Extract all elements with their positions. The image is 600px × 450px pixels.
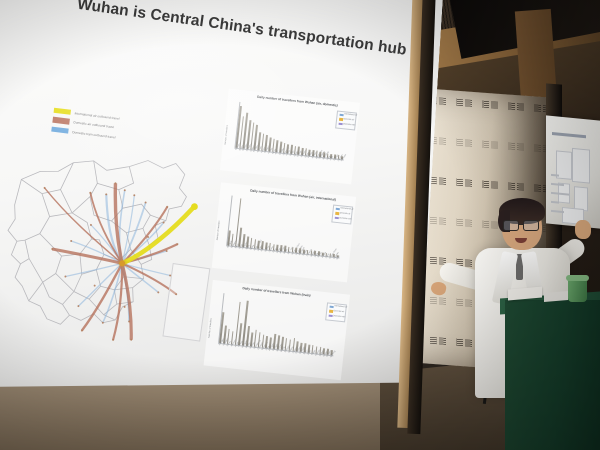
chart-legend-label: Domestic air xyxy=(340,212,351,215)
chart-legend: International airDomestic airDomestic tr… xyxy=(325,302,347,322)
backdrop-logo-icon xyxy=(456,99,476,116)
chart-legend-label: Domestic train xyxy=(339,217,351,220)
chart-legend: International airDomestic airDomestic tr… xyxy=(335,110,357,130)
backdrop-logo-icon xyxy=(482,141,502,158)
confidence-monitor-figure xyxy=(572,148,590,184)
chart-legend-swatch xyxy=(329,305,333,308)
screenshot-scene: Wuhan is Central China's transportation … xyxy=(0,0,600,450)
backdrop-logo-icon xyxy=(430,337,450,354)
slide-legend-label: Domestic air outbound travel xyxy=(73,120,114,129)
chart-legend: International airDomestic airDomestic tr… xyxy=(331,205,353,225)
chart-legend-swatch xyxy=(329,310,333,313)
green-cup-lid xyxy=(566,275,589,281)
chart-legend-label: Domestic train xyxy=(333,315,345,318)
backdrop-logo-glyph xyxy=(430,257,437,265)
chart-x-tick-label: Male xyxy=(337,255,341,260)
backdrop-logo-icon xyxy=(430,217,450,234)
chart-legend-label: Domestic air xyxy=(344,118,355,121)
chart-legend-label: Domestic train xyxy=(343,123,355,126)
chart-legend-label: Domestic air xyxy=(334,310,345,313)
backdrop-logo-glyph xyxy=(439,177,446,185)
glasses-icon xyxy=(523,220,539,231)
chart-legend-swatch xyxy=(339,118,343,121)
backdrop-logo-glyph xyxy=(534,104,541,112)
backdrop-logo-glyph xyxy=(430,297,437,305)
chart-legend-swatch xyxy=(338,122,342,125)
confidence-monitor-title xyxy=(552,132,586,138)
chart-legend-swatch xyxy=(328,314,332,317)
backdrop-logo-glyph xyxy=(465,179,472,187)
backdrop-logo-icon xyxy=(508,142,528,159)
chart-y-axis-label: Number of travellers xyxy=(225,125,229,145)
green-cup xyxy=(568,278,587,302)
glasses-icon xyxy=(503,220,519,231)
chart-legend-label: International air xyxy=(344,114,357,117)
chart-legend-label: International air xyxy=(340,208,353,211)
chart-y-axis-label: Number of travellers xyxy=(217,221,221,241)
slide-chart: Daily number of travellers from Wuhan (a… xyxy=(212,182,356,282)
backdrop-logo-glyph xyxy=(456,139,463,147)
backdrop-logo-icon xyxy=(430,297,450,314)
backdrop-logo-glyph xyxy=(517,183,524,191)
conference-table xyxy=(505,300,600,450)
slide-chart: Daily number of travellers from Wuhan (t… xyxy=(204,280,350,380)
projection-screen-wrapper: Wuhan is Central China's transportation … xyxy=(0,0,443,426)
slide-chart: Daily number of travellers from Wuhan (a… xyxy=(220,89,360,185)
backdrop-logo-glyph xyxy=(465,139,472,147)
backdrop-logo-glyph xyxy=(430,217,437,225)
backdrop-logo-glyph xyxy=(456,99,463,107)
backdrop-logo-glyph xyxy=(491,181,498,189)
chart-legend-swatch xyxy=(335,212,339,215)
backdrop-logo-glyph xyxy=(508,182,515,190)
chart-legend-label: International air xyxy=(334,306,347,309)
glasses-bridge xyxy=(518,224,523,225)
backdrop-logo-glyph xyxy=(482,141,489,149)
backdrop-logo-glyph xyxy=(508,142,515,150)
backdrop-logo-glyph xyxy=(482,101,489,109)
backdrop-logo-glyph xyxy=(439,137,446,145)
backdrop-logo-icon xyxy=(482,101,502,118)
confidence-monitor-text-line xyxy=(551,174,559,176)
domestic-air-flows xyxy=(30,176,188,346)
backdrop-logo-glyph xyxy=(439,337,446,345)
slide-legend-swatch xyxy=(54,107,72,115)
backdrop-logo-icon xyxy=(456,139,476,156)
backdrop-logo-glyph xyxy=(439,297,446,305)
backdrop-logo-glyph xyxy=(491,141,498,149)
backdrop-logo-glyph xyxy=(508,102,515,110)
chart-legend-swatch xyxy=(339,113,343,116)
backdrop-logo-glyph xyxy=(439,217,446,225)
chart-y-axis-label: Number of travellers xyxy=(209,319,213,339)
chart-legend-swatch xyxy=(335,207,339,210)
backdrop-logo-glyph xyxy=(534,184,541,192)
backdrop-logo-icon xyxy=(508,102,528,119)
backdrop-logo-icon xyxy=(430,177,450,194)
backdrop-logo-icon xyxy=(456,179,476,196)
chart-legend-swatch xyxy=(334,216,338,219)
backdrop-logo-glyph xyxy=(439,97,446,105)
backdrop-logo-glyph xyxy=(430,337,437,345)
backdrop-logo-glyph xyxy=(465,99,472,107)
backdrop-logo-glyph xyxy=(456,179,463,187)
backdrop-logo-glyph xyxy=(517,103,524,111)
backdrop-logo-glyph xyxy=(482,181,489,189)
presenter-right-hand xyxy=(575,220,591,239)
backdrop-logo-glyph xyxy=(491,101,498,109)
backdrop-logo-glyph xyxy=(534,144,541,152)
backdrop-logo-glyph xyxy=(517,143,524,151)
china-flow-map xyxy=(0,124,222,372)
slide-legend-swatch xyxy=(52,117,70,125)
